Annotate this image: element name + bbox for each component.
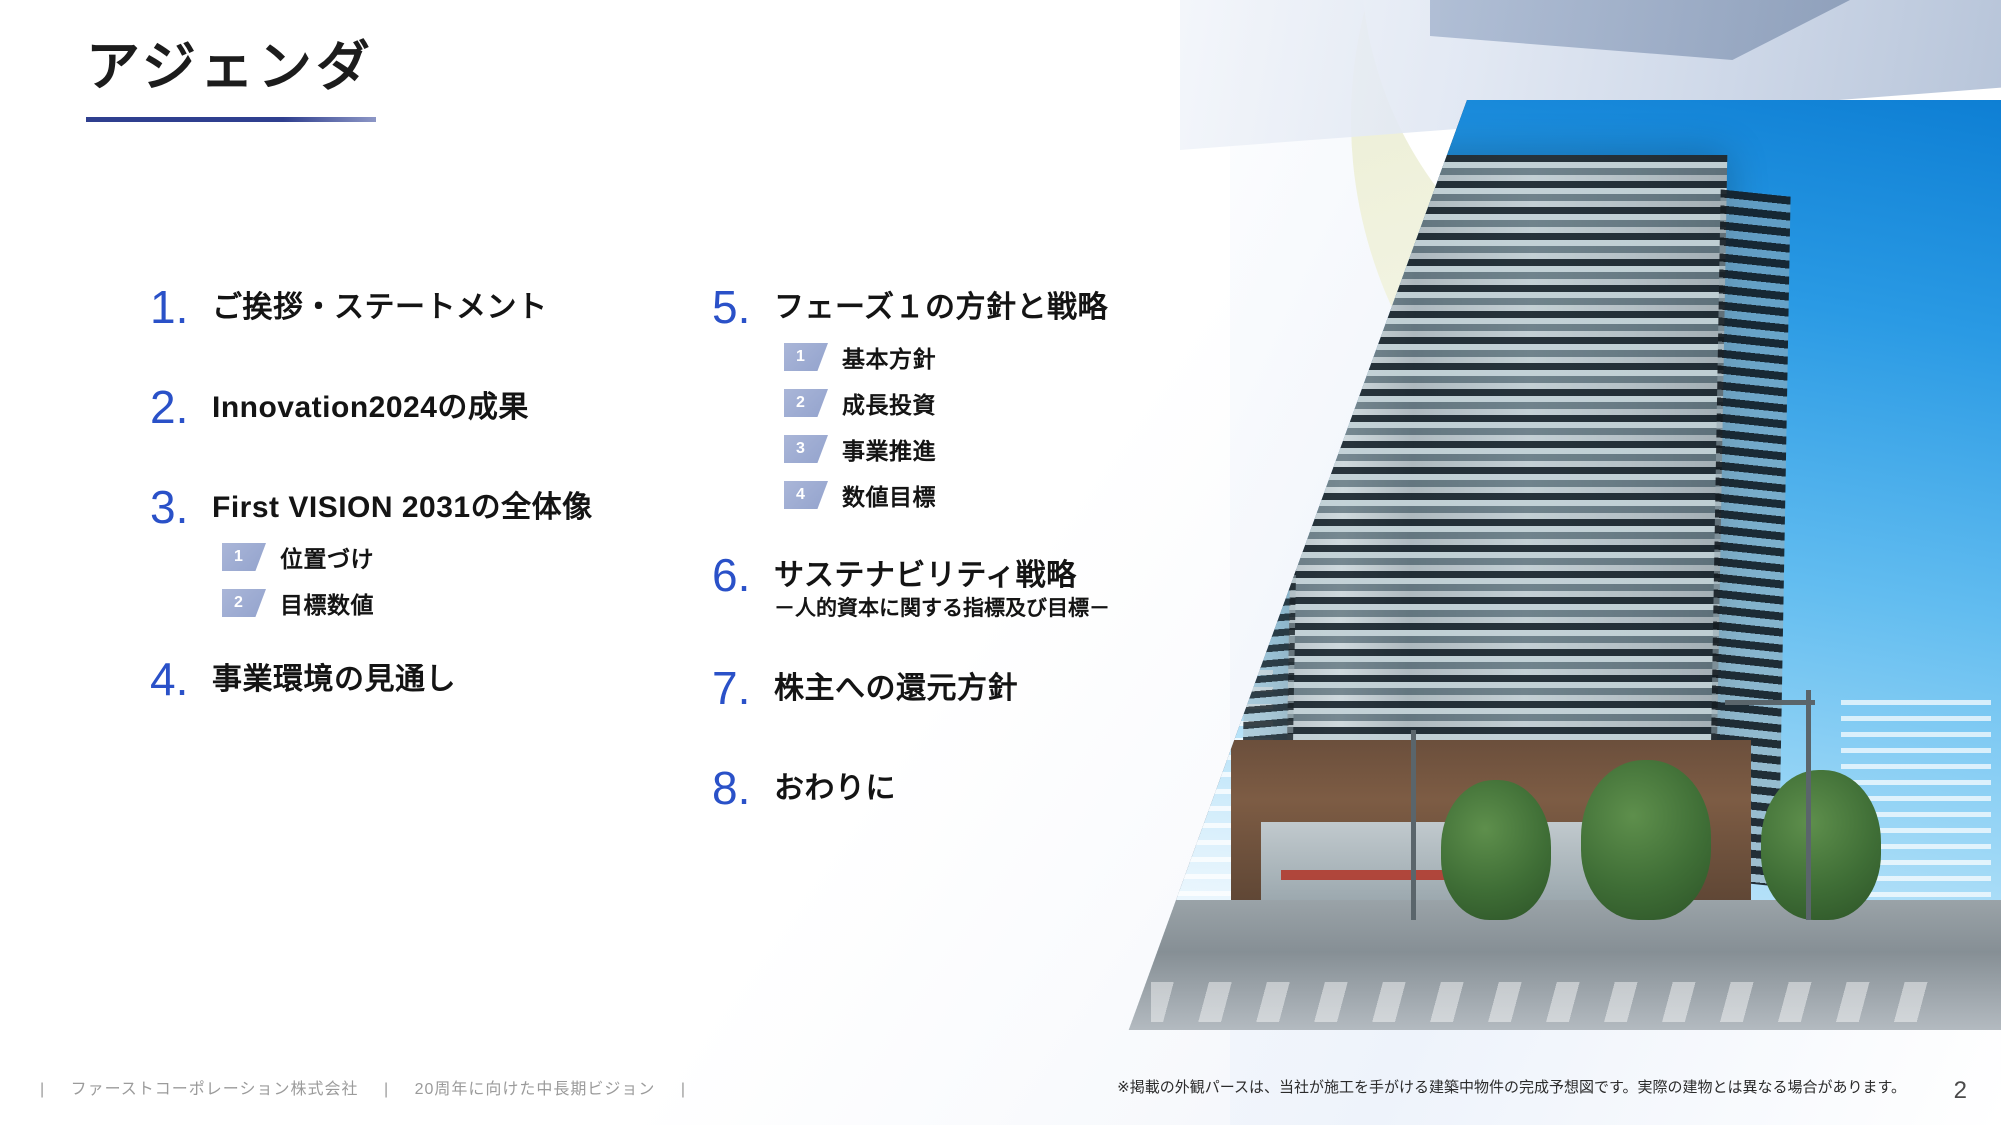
subitem-label: 事業推進 bbox=[842, 432, 936, 466]
subitem-label: 成長投資 bbox=[842, 386, 936, 420]
agenda-item-label: ご挨拶・ステートメント bbox=[212, 282, 548, 325]
subitem-number-badge: 2 bbox=[784, 389, 828, 417]
photo-tree bbox=[1441, 780, 1551, 920]
agenda-item-note: －人的資本に関する指標及び目標－ bbox=[774, 595, 1110, 622]
agenda-item-8[interactable]: 8. おわりに bbox=[712, 763, 1182, 811]
agenda-item-label: 事業環境の見通し bbox=[212, 654, 456, 697]
agenda-right-column: 5. フェーズ１の方針と戦略 1 基本方針 2 成長投資 3 事業推進 4 bbox=[712, 282, 1182, 811]
agenda-item-3-subitems: 1 位置づけ 2 目標数値 bbox=[222, 540, 620, 620]
photo-disclaimer: ※掲載の外観パースは、当社が施工を手がける建築中物件の完成予想図です。実際の建物… bbox=[1117, 1076, 1906, 1097]
agenda-item-number: 4. bbox=[150, 654, 212, 702]
photo-utility-pole bbox=[1411, 730, 1416, 920]
agenda-item-7[interactable]: 7. 株主への還元方針 bbox=[712, 663, 1182, 711]
subitem-number-badge: 1 bbox=[222, 543, 266, 571]
agenda-item-label: フェーズ１の方針と戦略 bbox=[774, 282, 1108, 325]
agenda-item-number: 1. bbox=[150, 282, 212, 330]
agenda-subitem[interactable]: 3 事業推進 bbox=[784, 432, 1182, 466]
footer-divider-3: | bbox=[681, 1081, 686, 1098]
footer-company: ファーストコーポレーション株式会社 bbox=[71, 1081, 359, 1098]
agenda-item-number: 7. bbox=[712, 663, 774, 711]
agenda-item-number: 6. bbox=[712, 550, 774, 598]
subitem-label: 目標数値 bbox=[280, 586, 374, 620]
photo-tree bbox=[1761, 770, 1881, 920]
agenda-item-number: 2. bbox=[150, 382, 212, 430]
agenda-item-number: 3. bbox=[150, 482, 212, 530]
photo-signal-arm bbox=[1725, 700, 1815, 705]
agenda-item-6[interactable]: 6. サステナビリティ戦略 －人的資本に関する指標及び目標－ bbox=[712, 550, 1182, 623]
agenda-item-label: おわりに bbox=[774, 763, 896, 806]
photo-crosswalk bbox=[1151, 982, 1952, 1022]
footer: | ファーストコーポレーション株式会社 | 20周年に向けた中長期ビジョン | bbox=[30, 1075, 696, 1099]
page-title-block: アジェンダ bbox=[86, 38, 376, 122]
photo-street bbox=[1111, 900, 2001, 1030]
footer-divider-2: | bbox=[384, 1081, 389, 1098]
agenda-item-label: サステナビリティ戦略 bbox=[774, 550, 1110, 593]
agenda-item-label: 株主への還元方針 bbox=[774, 663, 1018, 706]
agenda-subitem[interactable]: 4 数値目標 bbox=[784, 478, 1182, 512]
agenda-subitem[interactable]: 2 目標数値 bbox=[222, 586, 620, 620]
agenda-subitem[interactable]: 1 位置づけ bbox=[222, 540, 620, 574]
agenda-item-4[interactable]: 4. 事業環境の見通し bbox=[150, 654, 620, 702]
subitem-number-badge: 2 bbox=[222, 589, 266, 617]
agenda-item-number: 5. bbox=[712, 282, 774, 330]
title-underline bbox=[86, 117, 376, 122]
agenda-item-5[interactable]: 5. フェーズ１の方針と戦略 bbox=[712, 282, 1182, 330]
subitem-number-badge: 4 bbox=[784, 481, 828, 509]
agenda-item-number: 8. bbox=[712, 763, 774, 811]
page-title: アジェンダ bbox=[86, 38, 376, 97]
subitem-number-badge: 3 bbox=[784, 435, 828, 463]
photo-tree bbox=[1581, 760, 1711, 920]
agenda-item-label: Innovation2024の成果 bbox=[212, 382, 529, 425]
agenda-slide: アジェンダ 1. ご挨拶・ステートメント 2. Innovation2024の成… bbox=[0, 0, 2001, 1125]
subitem-number-badge: 1 bbox=[784, 343, 828, 371]
page-number: 2 bbox=[1954, 1077, 1967, 1105]
subitem-label: 数値目標 bbox=[842, 478, 936, 512]
footer-divider-1: | bbox=[40, 1081, 45, 1098]
agenda-item-2[interactable]: 2. Innovation2024の成果 bbox=[150, 382, 620, 430]
agenda-subitem[interactable]: 1 基本方針 bbox=[784, 340, 1182, 374]
agenda-subitem[interactable]: 2 成長投資 bbox=[784, 386, 1182, 420]
agenda-left-column: 1. ご挨拶・ステートメント 2. Innovation2024の成果 3. F… bbox=[150, 282, 620, 702]
subitem-label: 位置づけ bbox=[280, 540, 374, 574]
agenda-item-5-subitems: 1 基本方針 2 成長投資 3 事業推進 4 数値目標 bbox=[784, 340, 1182, 512]
subitem-label: 基本方針 bbox=[842, 340, 936, 374]
agenda-item-3[interactable]: 3. First VISION 2031の全体像 bbox=[150, 482, 620, 530]
footer-document-title: 20周年に向けた中長期ビジョン bbox=[415, 1081, 656, 1098]
agenda-item-label: First VISION 2031の全体像 bbox=[212, 482, 593, 525]
photo-utility-pole bbox=[1806, 690, 1811, 920]
agenda-item-1[interactable]: 1. ご挨拶・ステートメント bbox=[150, 282, 620, 330]
